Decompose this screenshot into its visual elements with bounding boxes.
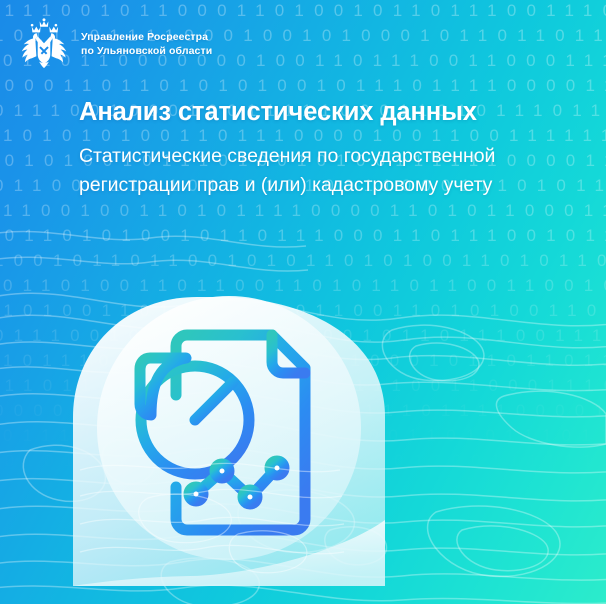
brand-line-1: Управление Росреестра [81,31,212,45]
binary-row: 10101010011011100001001100111111110110 [0,452,606,469]
binary-row: 01101100000001001101110011000111011101 [0,377,606,394]
poster-canvas: 0111001011000110100101101110011100011010… [0,0,606,604]
binary-row: 11001001101011110000110101100011011011 [3,202,606,219]
binary-row: 01101001101100110101101100110010110101 [3,277,606,294]
binary-row: 00001101101010100101110111100001110110 [0,77,606,94]
topographic-pattern [0,0,606,604]
binary-row: 11010011010110010110011010100110101100 [0,302,606,319]
binary-row: 00001101101010100101110111100001110110 [0,402,606,419]
binary-digit-pattern: 0111001011000110100101101110011100011010… [0,0,606,604]
brand-line-2: по Ульяновской области [81,45,212,59]
binary-row: 01110010001001111100011010111011011101 [3,427,606,444]
rosreestr-eagle-icon [16,17,72,73]
illustration-backdrop-blob [0,0,606,604]
binary-row: 10010110110010101101010011010110011100 [0,252,606,269]
binary-row: 00110101001011011100011011100101101010 [0,227,606,244]
topographic-pattern-overlay [0,0,606,604]
brand-text: Управление Росреестра по Ульяновской обл… [81,31,212,59]
page-title: Анализ статистических данных [79,98,477,127]
binary-row: 10111011110001001010001011011011100111 [3,352,606,369]
brand-lockup: Управление Росреестра по Ульяновской обл… [16,17,212,73]
binary-row: 01110010110001101001011011100111000110 [0,327,606,344]
document-with-charts-icon [0,0,606,604]
page-subtitle: Статистические сведения по государственн… [79,142,557,200]
